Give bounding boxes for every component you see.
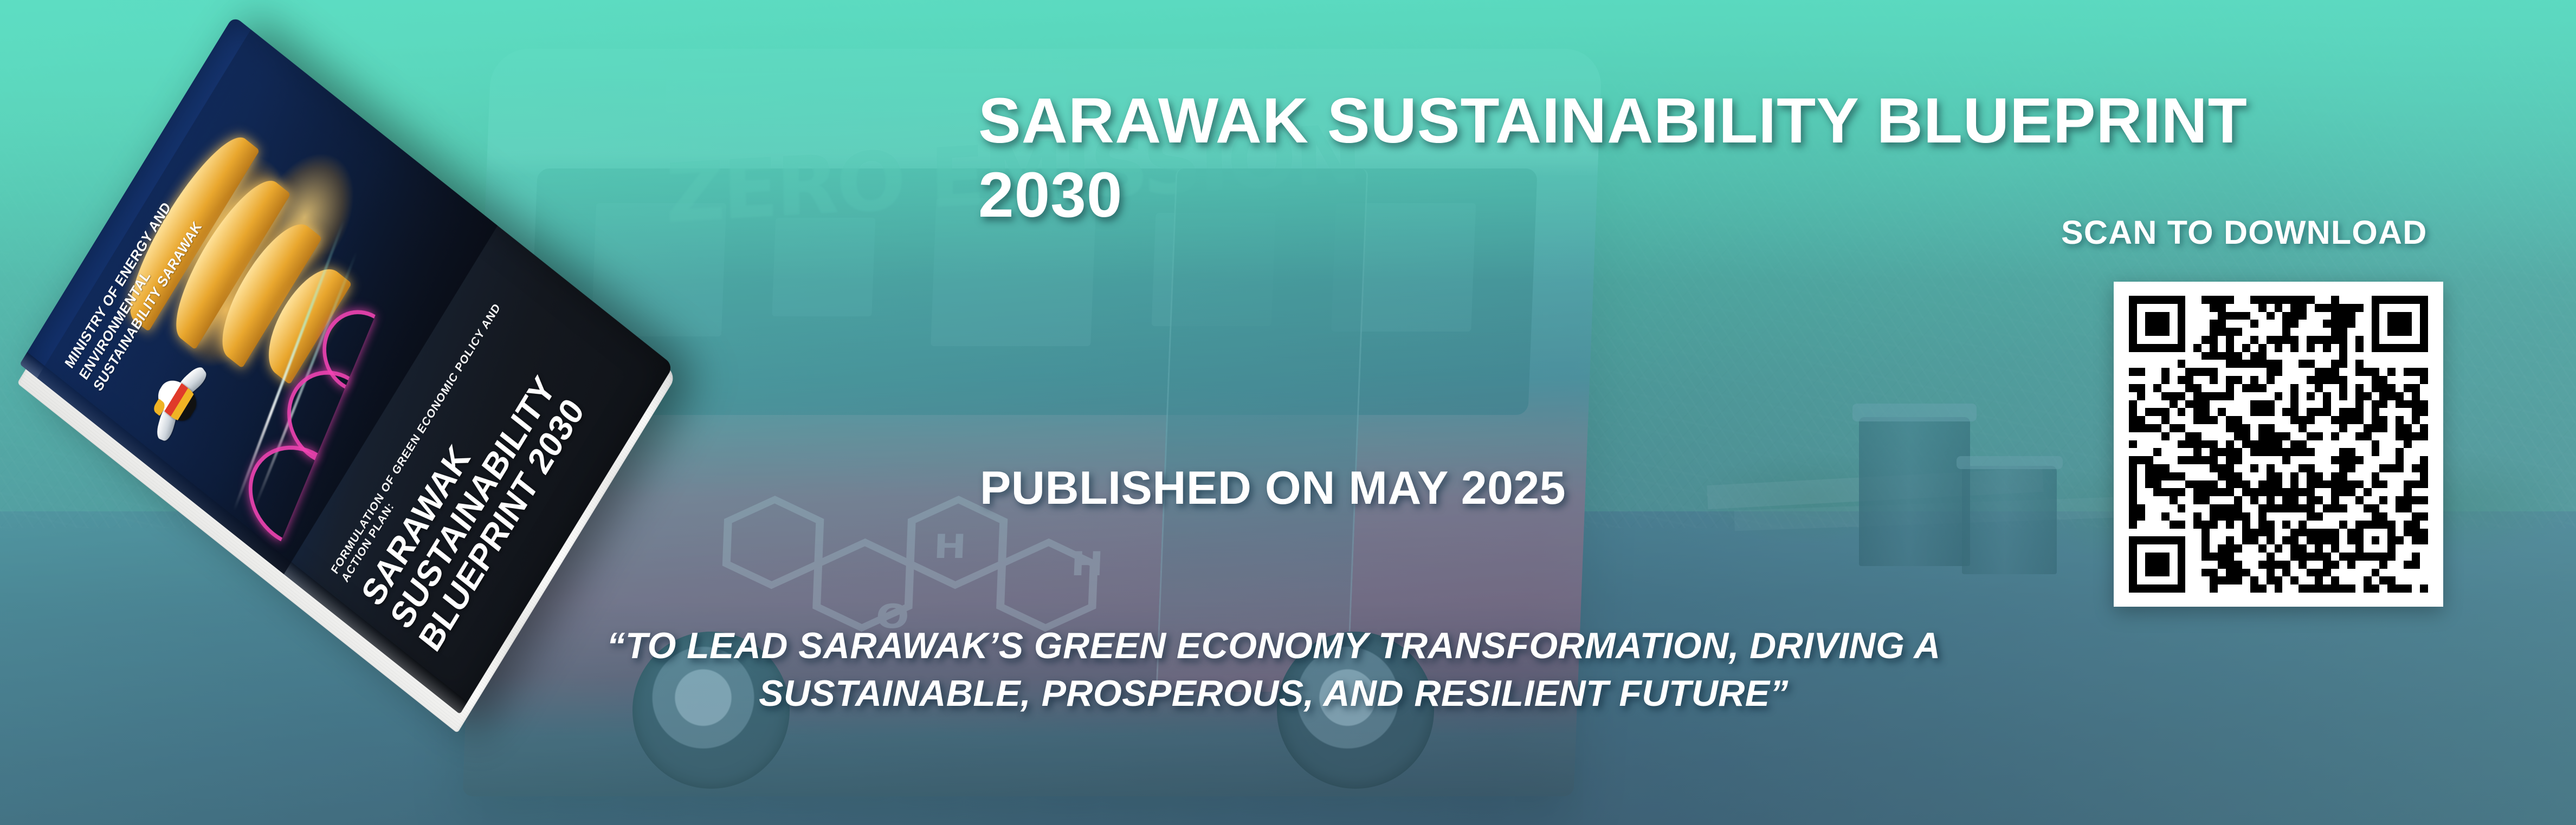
tagline: “TO LEAD SARAWAK’S GREEN ECONOMY TRANSFO…: [412, 622, 2135, 718]
scan-to-download-label: SCAN TO DOWNLOAD: [2061, 213, 2427, 251]
book-cover: MINISTRY OF ENERGY AND ENVIRONMENTAL SUS…: [20, 16, 674, 714]
tagline-line-1: “TO LEAD SARAWAK’S GREEN ECONOMY TRANSFO…: [412, 622, 2135, 670]
published-date: PUBLISHED ON MAY 2025: [980, 462, 1566, 515]
qr-code[interactable]: [2114, 282, 2443, 607]
headline-line-1: SARAWAK SUSTAINABILITY BLUEPRINT: [978, 85, 2248, 157]
qr-code-modules: [2129, 296, 2428, 593]
banner-root: ZERO EMISSION H O H: [0, 0, 2576, 825]
tagline-line-2: SUSTAINABLE, PROSPEROUS, AND RESILIENT F…: [412, 670, 2135, 717]
page-title: SARAWAK SUSTAINABILITY BLUEPRINT 2030: [978, 84, 2442, 232]
book-mockup: MINISTRY OF ENERGY AND ENVIRONMENTAL SUS…: [79, 65, 848, 677]
